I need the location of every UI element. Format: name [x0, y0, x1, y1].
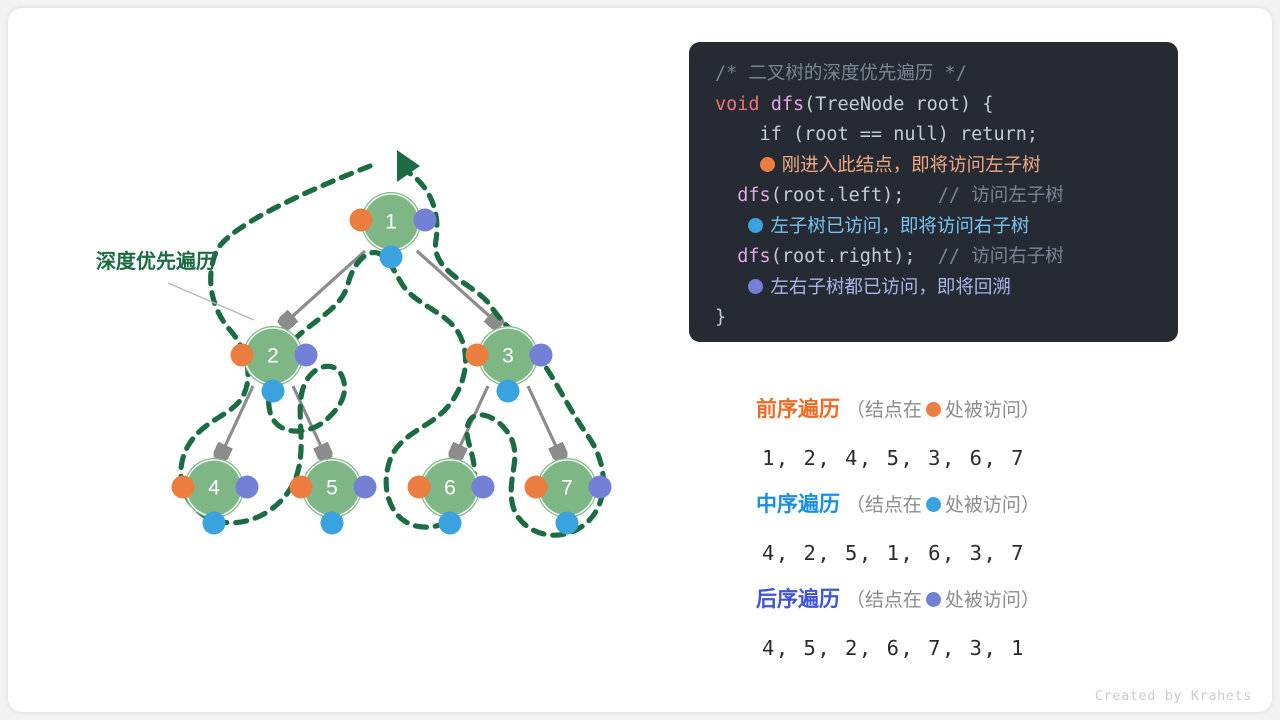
node-7-enter-dot	[525, 476, 548, 499]
code-call-left-args: (root.left);	[771, 185, 905, 206]
tree-node-3[interactable]: 3	[466, 326, 553, 403]
preorder-block: 前序遍历 （结点在处被访问） 1, 2, 4, 5, 3, 6, 7	[756, 390, 1186, 485]
code-call-right-args: (root.right);	[771, 246, 916, 267]
inorder-dot-icon	[926, 497, 941, 512]
preorder-dot-icon	[926, 402, 941, 417]
code-line-note-back: 左右子树都已访问，即将回溯	[689, 273, 1178, 304]
orange-dot-icon	[760, 157, 775, 172]
node-3-back-dot	[530, 344, 553, 367]
code-close-brace: }	[715, 307, 726, 328]
node-6-back-dot	[472, 476, 495, 499]
code-note-back-text: 左右子树都已访问，即将回溯	[770, 277, 1011, 298]
postorder-heading: 后序遍历 （结点在处被访问）	[756, 580, 1186, 621]
preorder-sequence: 1, 2, 4, 5, 3, 6, 7	[756, 431, 1186, 485]
tree-node-6[interactable]: 6	[408, 458, 495, 535]
node-2-label: 2	[267, 345, 279, 368]
traversal-results: 前序遍历 （结点在处被访问） 1, 2, 4, 5, 3, 6, 7 中序遍历 …	[756, 390, 1186, 675]
node-7-label: 7	[561, 477, 573, 500]
code-line-signature: void dfs(TreeNode root) {	[689, 90, 1178, 121]
node-1-enter-dot	[350, 209, 373, 232]
code-call-right-comment: // 访问右子树	[938, 246, 1064, 267]
postorder-block: 后序遍历 （结点在处被访问） 4, 5, 2, 6, 7, 3, 1	[756, 580, 1186, 675]
postorder-note-suffix: 处被访问）	[945, 590, 1040, 611]
edge-2-5	[293, 386, 325, 455]
code-call-left-fn: dfs	[737, 185, 770, 206]
preorder-heading: 前序遍历 （结点在处被访问）	[756, 390, 1186, 431]
code-line-note-enter: 刚进入此结点，即将访问左子树	[689, 151, 1178, 182]
tree-nodes: 1 2 3	[172, 192, 612, 535]
blue-dot-icon	[748, 218, 763, 233]
node-2-enter-dot	[231, 344, 254, 367]
code-line-nullcheck: if (root == null) return;	[689, 120, 1178, 151]
node-5-mid-dot	[321, 512, 344, 535]
code-signature-rest: (TreeNode root) {	[804, 94, 993, 115]
tree-node-7[interactable]: 7	[525, 458, 612, 535]
inorder-note-suffix: 处被访问）	[945, 495, 1040, 516]
postorder-sequence: 4, 5, 2, 6, 7, 3, 1	[756, 621, 1186, 675]
node-4-back-dot	[236, 476, 259, 499]
preorder-note-suffix: 处被访问）	[945, 400, 1040, 421]
node-1-mid-dot	[380, 246, 403, 269]
code-line-comment: /* 二叉树的深度优先遍历 */	[689, 59, 1178, 90]
edge-2-4	[221, 386, 253, 455]
code-line-call-right: dfs(root.right); // 访问右子树	[689, 242, 1178, 273]
code-line-close: }	[689, 303, 1178, 334]
node-3-label: 3	[502, 345, 514, 368]
code-line-call-left: dfs(root.left); // 访问左子树	[689, 181, 1178, 212]
node-7-back-dot	[589, 476, 612, 499]
binary-tree-diagram: 1 2 3	[8, 8, 688, 712]
preorder-note-prefix: （结点在	[846, 400, 922, 421]
node-2-back-dot	[295, 344, 318, 367]
code-keyword-void: void	[715, 94, 760, 115]
node-6-label: 6	[444, 477, 456, 500]
node-4-enter-dot	[172, 476, 195, 499]
inorder-sequence: 4, 2, 5, 1, 6, 3, 7	[756, 526, 1186, 580]
node-6-mid-dot	[439, 512, 462, 535]
edge-1-3	[417, 251, 497, 323]
node-5-back-dot	[354, 476, 377, 499]
postorder-dot-icon	[926, 592, 941, 607]
page-root: 1 2 3	[0, 0, 1280, 720]
node-3-enter-dot	[466, 344, 489, 367]
edge-3-7	[528, 386, 560, 455]
inorder-title: 中序遍历	[756, 493, 840, 516]
slide-card: 1 2 3	[8, 8, 1272, 712]
inorder-block: 中序遍历 （结点在处被访问） 4, 2, 5, 1, 6, 3, 7	[756, 485, 1186, 580]
credit-footer: Created by Krahets	[1095, 688, 1252, 704]
code-line-note-mid: 左子树已访问，即将访问右子树	[689, 212, 1178, 243]
code-call-left-comment: // 访问左子树	[938, 185, 1064, 206]
node-5-enter-dot	[290, 476, 313, 499]
code-note-enter-text: 刚进入此结点，即将访问左子树	[782, 155, 1041, 176]
node-4-mid-dot	[203, 512, 226, 535]
purple-dot-icon	[748, 279, 763, 294]
code-note-mid-text: 左子树已访问，即将访问右子树	[770, 216, 1029, 237]
code-block: /* 二叉树的深度优先遍历 */ void dfs(TreeNode root)…	[689, 42, 1178, 342]
code-call-right-fn: dfs	[737, 246, 770, 267]
postorder-title: 后序遍历	[756, 588, 840, 611]
code-nullcheck-text: if (root == null) return;	[715, 124, 1038, 145]
code-comment-text: /* 二叉树的深度优先遍历 */	[715, 63, 967, 84]
tree-node-5[interactable]: 5	[290, 458, 377, 535]
node-2-mid-dot	[262, 380, 285, 403]
node-6-enter-dot	[408, 476, 431, 499]
dfs-annotation-label: 深度优先遍历	[96, 249, 216, 273]
node-7-mid-dot	[556, 512, 579, 535]
node-1-back-dot	[414, 209, 437, 232]
node-1-label: 1	[385, 211, 397, 234]
postorder-note-prefix: （结点在	[846, 590, 922, 611]
node-3-mid-dot	[497, 380, 520, 403]
node-5-label: 5	[326, 477, 338, 500]
node-4-label: 4	[208, 477, 220, 500]
inorder-heading: 中序遍历 （结点在处被访问）	[756, 485, 1186, 526]
preorder-title: 前序遍历	[756, 398, 840, 421]
inorder-note-prefix: （结点在	[846, 495, 922, 516]
code-fnname-dfs: dfs	[771, 94, 804, 115]
